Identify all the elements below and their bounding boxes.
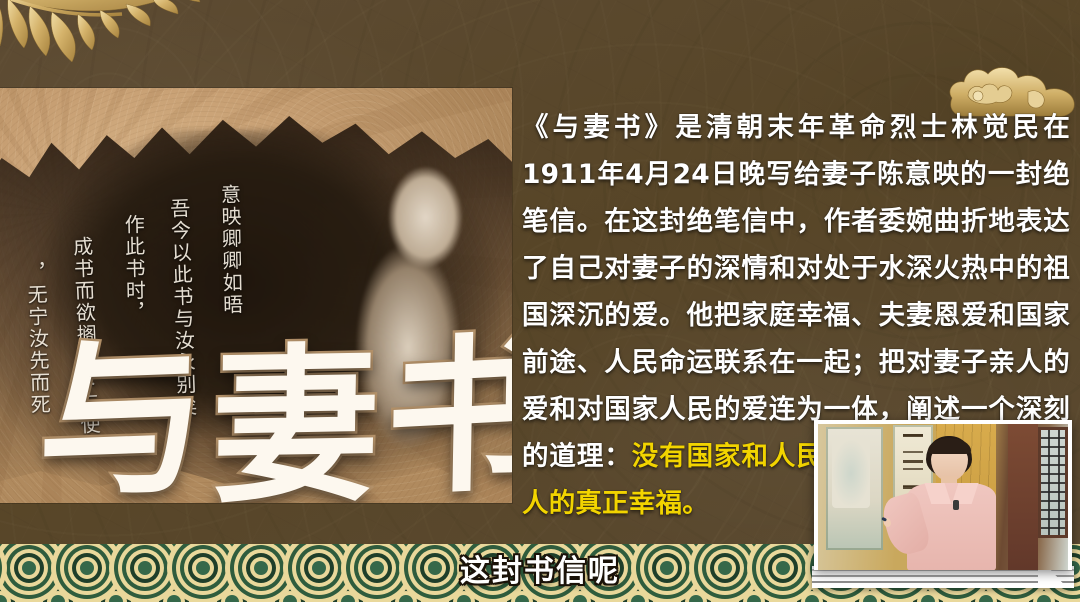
presenter-video[interactable] [814,420,1072,570]
vertical-column-2: 吾今以此书与汝永别矣 [166,198,198,485]
presenter-hair-front [928,438,972,454]
presenter-figure [893,436,1008,570]
vertical-column-4: 成书而欲搁笔…与使 [69,236,102,485]
vertical-column-1: 意映卿卿如晤 [216,184,245,484]
presenter-lapel-mic [953,500,959,509]
room-door [1008,424,1038,570]
vertical-column-3: 作此书时， [120,214,147,484]
vertical-column-5: ，无宁汝先而死 [23,262,52,485]
historical-photo-figure [328,146,502,470]
lattice-window [1038,427,1068,538]
description-plain-text: 《与妻书》是清朝末年革命烈士林觉民在1911年4月24日晚写给妻子陈意映的一封绝… [522,112,1070,472]
book-cover-image: 意映卿卿如晤 吾今以此书与汝永别矣 作此书时， 成书而欲搁笔…与使 ，无宁汝先而… [0,88,512,503]
slide-stage: 意映卿卿如晤 吾今以此书与汝永别矣 作此书时， 成书而欲搁笔…与使 ，无宁汝先而… [0,0,1080,602]
presenter-video-frame [818,424,1068,570]
gold-leaf-branch-icon [0,0,204,100]
vertical-classical-text: 意映卿卿如晤 吾今以此书与汝永别矣 作此书时， 成书而欲搁笔…与使 ，无宁汝先而… [26,184,242,484]
wall-scroll-left [826,427,884,550]
